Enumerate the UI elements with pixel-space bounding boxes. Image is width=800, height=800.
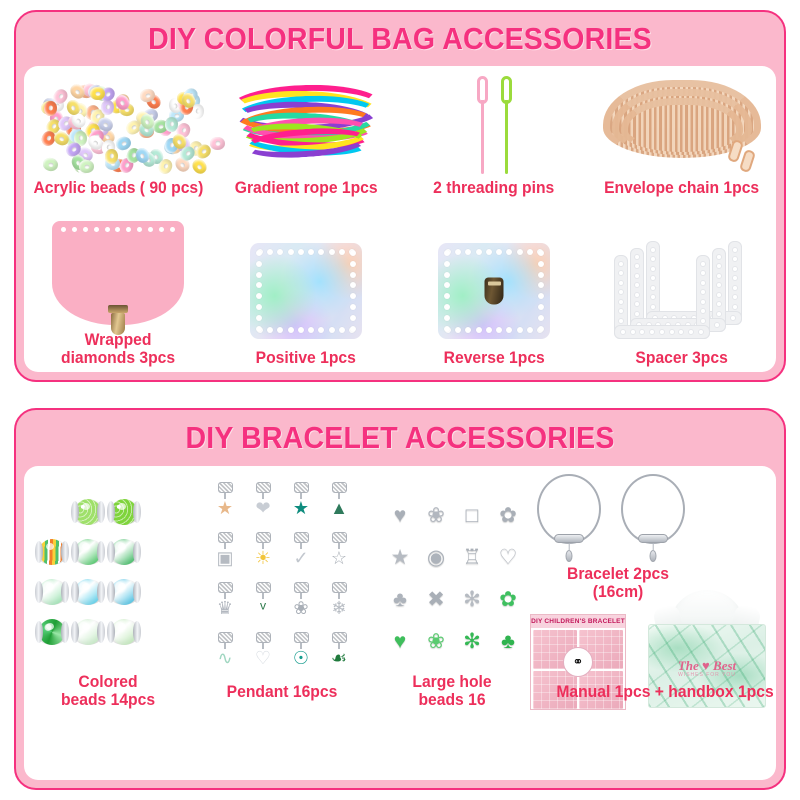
- charm-glyph: ❄: [331, 599, 346, 617]
- panel-hole: [517, 249, 523, 255]
- charm-glyph: ★: [217, 499, 233, 517]
- item-envelope-chain: Envelope chain 1pcs: [588, 70, 776, 198]
- panel-hole: [444, 293, 450, 299]
- spacer-hole: [630, 329, 636, 335]
- spacer-hole: [700, 280, 706, 286]
- panel-hole: [444, 282, 450, 288]
- spacer-hole: [732, 256, 738, 262]
- spacer-hole: [730, 315, 736, 321]
- pendant-group: ★❤★▲▣☀✓☆♛ᵛ❀❄∿♡☉☙: [206, 482, 358, 682]
- charm-glyph: ♡: [255, 649, 271, 667]
- charm-bail: [332, 582, 347, 593]
- charm-glyph: ☉: [293, 649, 309, 667]
- panel-hole: [256, 261, 262, 267]
- charm-glyph: ☙: [331, 649, 347, 667]
- positive-panel-image: [250, 243, 362, 339]
- spacer-hole: [716, 282, 722, 288]
- colored-bead-icon: [108, 539, 140, 565]
- panel-hole: [506, 327, 512, 333]
- panel-hole: [288, 327, 294, 333]
- panel-hole: [517, 327, 523, 333]
- large-hole-bead-clover-leaf-icon: ♣: [393, 589, 407, 610]
- panel-hole: [256, 272, 262, 278]
- colored-bead-icon: [108, 579, 140, 605]
- charm-glyph: ▣: [216, 549, 233, 567]
- spacer-hole: [700, 308, 706, 314]
- bead-highlight: [82, 503, 90, 510]
- large-hole-bead-cross-knot-icon: ✖: [427, 589, 445, 610]
- panel-hole: [538, 282, 544, 288]
- colored-bead: [106, 532, 142, 572]
- bag-accessories-panel: DIY COLORFUL BAG ACCESSORIES Acrylic bea…: [14, 10, 786, 382]
- manual-header: DIY CHILDREN'S BRACELET: [531, 615, 625, 628]
- charm-glyph: ∿: [217, 649, 232, 667]
- panel-hole: [298, 327, 304, 333]
- bead-band: [107, 541, 115, 563]
- panel-hole: [527, 327, 533, 333]
- spacer-hole: [714, 322, 720, 328]
- bead-highlight: [46, 543, 54, 550]
- pendant-crown-icon: ♛: [208, 582, 242, 630]
- large-hole-beads-label: Large hole beads 16: [380, 674, 524, 710]
- colored-bead: [70, 572, 106, 612]
- panel-hole: [256, 250, 262, 256]
- spacer-hole: [639, 329, 645, 335]
- colored-bead: [34, 612, 70, 652]
- spacer-hole: [732, 275, 738, 281]
- charm-bail: [294, 532, 309, 543]
- colored-bead-icon: [72, 579, 104, 605]
- large-hole-bead-castle-icon: ♖: [463, 547, 482, 568]
- panel-hole: [288, 249, 294, 255]
- spacer-hole: [688, 329, 694, 335]
- spacer-hole: [700, 318, 706, 324]
- charm-bail: [294, 582, 309, 593]
- bracelet-panel-body: Colored beads 14pcs ★❤★▲▣☀✓☆♛ᵛ❀❄∿♡☉☙ Pen…: [24, 466, 776, 780]
- spacer-hole: [716, 273, 722, 279]
- panel-hole: [350, 261, 356, 267]
- colored-bead: [106, 492, 142, 532]
- panel-hole: [444, 304, 450, 310]
- panel-hole: [350, 250, 356, 256]
- panel-hole: [308, 249, 314, 255]
- grid-spacer: [142, 492, 178, 532]
- pendant-high-heel-icon: ✓: [284, 532, 318, 580]
- large-hole-bead-butterfly-green-icon: ❀: [427, 631, 445, 652]
- grid-spacer: [142, 572, 178, 612]
- pendant-mermaid-icon: ∿: [208, 632, 242, 680]
- charm-bail: [218, 482, 233, 493]
- bead-band: [97, 581, 105, 603]
- panel-hole: [538, 315, 544, 321]
- bracelet-1-icon: [534, 474, 604, 564]
- large-hole-bead-handbag-icon: □: [466, 505, 479, 526]
- bead-band: [97, 541, 105, 563]
- panel-hole: [256, 315, 262, 321]
- panel-hole: [444, 272, 450, 278]
- spacer-label: Spacer 3pcs: [636, 350, 728, 368]
- large-hole-bead-paw-green-icon: ✻: [463, 631, 481, 652]
- spacer-hole: [700, 270, 706, 276]
- charm-bail: [218, 532, 233, 543]
- colored-bead: [70, 492, 106, 532]
- large-hole-bead-flower-green-icon: ✿: [499, 589, 517, 610]
- bead-band: [107, 501, 115, 523]
- charm-bail: [294, 482, 309, 493]
- bead-band: [133, 501, 141, 523]
- acrylic-bead: [101, 100, 115, 116]
- pendant-snowflake-icon: ❄: [322, 582, 356, 630]
- grid-spacer: [142, 612, 178, 652]
- pendant-leaf-icon: ☙: [322, 632, 356, 680]
- colored-bead-icon: [108, 499, 140, 525]
- charm-glyph: ❀: [293, 599, 308, 617]
- pendant-wine-glass-icon: ᵛ: [246, 582, 280, 630]
- large-hole-bead-double-heart-icon: ♡: [499, 547, 518, 568]
- colored-beads-group: [34, 492, 178, 652]
- pendant-starfish-icon: ★: [208, 482, 242, 530]
- bracelet-image: [534, 474, 702, 566]
- item-wrapped-diamonds: Wrapped diamonds 3pcs: [24, 214, 212, 368]
- bead-highlight: [82, 583, 90, 590]
- wrapped-diamonds-image: [52, 221, 184, 325]
- pendant-star-outline-icon: ☆: [322, 532, 356, 580]
- wrapped-diamonds-label: Wrapped diamonds 3pcs: [61, 332, 175, 368]
- bead-band: [97, 501, 105, 523]
- panel-hole: [350, 326, 356, 332]
- large-hole-bead-heart-pattern-icon: ♥: [394, 505, 406, 526]
- spacer-hole: [716, 292, 722, 298]
- charm-bail: [218, 632, 233, 643]
- spacer-hole: [618, 299, 624, 305]
- bead-band: [71, 541, 79, 563]
- gradient-rope-image: [220, 79, 392, 171]
- panel-hole: [476, 249, 482, 255]
- panel-hole: [444, 250, 450, 256]
- charm-glyph: ᵛ: [260, 599, 266, 617]
- positive-panel-label: Positive 1pcs: [256, 350, 356, 368]
- colored-bead-icon: [72, 539, 104, 565]
- colored-bead: [70, 612, 106, 652]
- spacer-hole: [716, 254, 722, 260]
- panel-hole: [350, 293, 356, 299]
- large-hole-beads-group: ♥❀□✿★◉♖♡♣✖✻✿♥❀✻♣: [382, 494, 526, 662]
- gradient-rope-label: Gradient rope 1pcs: [235, 180, 378, 198]
- pendant-heart-filigree-icon: ❤: [246, 482, 280, 530]
- spacer-hole: [618, 289, 624, 295]
- manual-detail-circle: ⚭: [563, 647, 593, 677]
- panel-hole: [329, 327, 335, 333]
- panel-hole: [350, 315, 356, 321]
- item-reverse-panel: Reverse 1pcs: [400, 232, 588, 368]
- pendant-camera-icon: ▣: [208, 532, 242, 580]
- spacer-hole: [700, 289, 706, 295]
- charm-bail: [256, 532, 271, 543]
- bead-band: [71, 621, 79, 643]
- panel-hole: [308, 327, 314, 333]
- panel-hole: [339, 327, 345, 333]
- pendant-grid: ★❤★▲▣☀✓☆♛ᵛ❀❄∿♡☉☙: [206, 482, 358, 682]
- bead-highlight: [118, 583, 126, 590]
- bracelet-2-icon: [618, 474, 688, 564]
- charm-bail: [294, 632, 309, 643]
- panel-hole: [267, 249, 273, 255]
- item-gradient-rope: Gradient rope 1pcs: [212, 70, 400, 198]
- item-spacer: Spacer 3pcs: [588, 232, 776, 368]
- charm-glyph: ♛: [217, 599, 233, 617]
- panel-hole: [444, 326, 450, 332]
- reverse-panel-image: [438, 243, 550, 339]
- pendant-planet-icon: ☉: [284, 632, 318, 680]
- threading-pin-pink-icon: [477, 76, 488, 174]
- panel-hole: [339, 249, 345, 255]
- envelope-chain-image: [593, 76, 771, 174]
- spacer-hole: [732, 285, 738, 291]
- charm-glyph: ☀: [255, 549, 271, 567]
- charm-bail: [218, 582, 233, 593]
- panel-hole: [506, 249, 512, 255]
- bracelet-panel-title: DIY BRACELET ACCESSORIES: [47, 410, 754, 466]
- colored-bead-icon: [72, 619, 104, 645]
- product-infographic: DIY COLORFUL BAG ACCESSORIES Acrylic bea…: [0, 0, 800, 800]
- bead-band: [133, 621, 141, 643]
- panel-hole: [256, 326, 262, 332]
- bead-band: [61, 581, 69, 603]
- spacer-hole: [669, 329, 675, 335]
- spacer-image: [606, 241, 758, 341]
- panel-hole: [298, 249, 304, 255]
- panel-hole: [538, 326, 544, 332]
- bead-highlight: [118, 623, 126, 630]
- large-hole-bead-paw-icon: ✻: [463, 589, 481, 610]
- bead-band: [35, 621, 43, 643]
- bead-band: [35, 541, 43, 563]
- large-hole-bead-rose-icon: ✿: [499, 505, 517, 526]
- bead-highlight: [118, 543, 126, 550]
- charm-bail: [256, 482, 271, 493]
- colored-beads-grid: [34, 492, 178, 652]
- colored-bead-icon: [36, 579, 68, 605]
- panel-hole: [350, 304, 356, 310]
- colored-bead: [106, 572, 142, 612]
- charm-glyph: ✓: [293, 549, 308, 567]
- bracelet-accessories-panel: DIY BRACELET ACCESSORIES Colored beads 1…: [14, 408, 786, 790]
- colored-bead: [106, 612, 142, 652]
- spacer-hole: [618, 308, 624, 314]
- panel-hole: [455, 249, 461, 255]
- panel-hole: [444, 315, 450, 321]
- colored-bead-icon: [72, 499, 104, 525]
- charm-bail: [332, 632, 347, 643]
- bead-highlight: [82, 623, 90, 630]
- item-positive-panel: Positive 1pcs: [212, 232, 400, 368]
- spacer-hole: [649, 329, 655, 335]
- bead-band: [133, 541, 141, 563]
- spacer-hole: [700, 299, 706, 305]
- bead-highlight: [82, 543, 90, 550]
- panel-hole: [496, 327, 502, 333]
- acrylic-bead: [79, 160, 94, 173]
- bracelet-label: Bracelet 2pcs: [534, 566, 701, 584]
- pendant-double-heart-icon: ♡: [246, 632, 280, 680]
- spacer-hole: [716, 311, 722, 317]
- panel-hole: [538, 272, 544, 278]
- spacer-hole: [716, 301, 722, 307]
- panel-hole: [455, 327, 461, 333]
- spacer-hole: [732, 247, 738, 253]
- threading-pins-image: [464, 76, 524, 174]
- large-hole-bead-owl-icon: ◉: [427, 547, 445, 568]
- charm-bail: [256, 582, 271, 593]
- large-hole-bead-star-icon: ★: [391, 547, 410, 568]
- bead-band: [35, 581, 43, 603]
- bead-band: [97, 621, 105, 643]
- panel-hole: [444, 261, 450, 267]
- panel-hole: [277, 249, 283, 255]
- panel-hole: [256, 304, 262, 310]
- panel-hole: [486, 327, 492, 333]
- colored-bead: [34, 572, 70, 612]
- charm-glyph: ❤: [255, 499, 270, 517]
- threading-pins-label: 2 threading pins: [433, 180, 554, 198]
- spacer-hole: [659, 329, 665, 335]
- bead-highlight: [46, 583, 54, 590]
- spacer-hole: [620, 329, 626, 335]
- acrylic-bead: [42, 157, 59, 173]
- large-hole-beads-grid: ♥❀□✿★◉♖♡♣✖✻✿♥❀✻♣: [382, 494, 526, 662]
- panel-hole: [277, 327, 283, 333]
- panel-hole: [329, 249, 335, 255]
- charm-bail: [332, 482, 347, 493]
- panel-hole: [527, 249, 533, 255]
- spacer-hole: [716, 263, 722, 269]
- spacer-hole: [732, 294, 738, 300]
- spacer-hole: [732, 304, 738, 310]
- panel-hole: [538, 261, 544, 267]
- colored-bead-icon: [36, 539, 68, 565]
- large-hole-bead-heart-green-icon: ♥: [394, 631, 406, 652]
- panel-hole: [465, 327, 471, 333]
- colored-bead-icon: [108, 619, 140, 645]
- manual-handbox-label: Manual 1pcs + handbox 1pcs: [527, 684, 786, 702]
- spacer-hole: [618, 280, 624, 286]
- panel-hole: [318, 327, 324, 333]
- pendant-label: Pendant 16pcs: [204, 684, 360, 702]
- large-hole-bead-clover-green-icon: ♣: [501, 631, 515, 652]
- panel-hole: [350, 272, 356, 278]
- panel-hole: [476, 327, 482, 333]
- charm-bail: [332, 532, 347, 543]
- acrylic-bead: [190, 157, 210, 177]
- acrylic-beads-image: [18, 77, 218, 173]
- spacer-hole: [618, 270, 624, 276]
- envelope-chain-label: Envelope chain 1pcs: [604, 180, 759, 198]
- panel-hole: [496, 249, 502, 255]
- panel-hole: [538, 304, 544, 310]
- panel-hole: [538, 250, 544, 256]
- bead-band: [107, 581, 115, 603]
- panel-hole: [256, 293, 262, 299]
- large-hole-bead-butterfly-icon: ❀: [427, 505, 445, 526]
- panel-hole: [256, 282, 262, 288]
- reverse-panel-label: Reverse 1pcs: [443, 350, 544, 368]
- pendant-sunflower-icon: ☀: [246, 532, 280, 580]
- bracelet-group: [534, 474, 702, 566]
- colored-bead: [34, 532, 70, 572]
- colored-bead: [70, 532, 106, 572]
- charm-glyph: ▲: [330, 499, 348, 517]
- panel-hole: [538, 293, 544, 299]
- bead-band: [61, 621, 69, 643]
- bag-panel-body: Acrylic beads ( 90 pcs) Gradient rope 1p…: [24, 66, 776, 372]
- charm-bail: [256, 632, 271, 643]
- colored-bead-icon: [36, 619, 68, 645]
- panel-hole: [465, 249, 471, 255]
- bead-band: [107, 621, 115, 643]
- bead-highlight: [118, 503, 126, 510]
- colored-beads-label: Colored beads 14pcs: [34, 674, 182, 710]
- spacer-hole: [618, 261, 624, 267]
- spacer-hole: [678, 329, 684, 335]
- item-acrylic-beads: Acrylic beads ( 90 pcs): [24, 70, 212, 198]
- charm-glyph: ★: [293, 499, 309, 517]
- spacer-hole: [732, 266, 738, 272]
- handbox-subtext: WISHES FOR YOU: [649, 672, 765, 678]
- grid-spacer: [142, 532, 178, 572]
- bead-band: [71, 581, 79, 603]
- bead-highlight: [46, 623, 54, 630]
- acrylic-beads-label: Acrylic beads ( 90 pcs): [33, 180, 203, 198]
- panel-hole: [486, 249, 492, 255]
- pendant-cupcake-icon: ▲: [322, 482, 356, 530]
- panel-hole: [350, 282, 356, 288]
- charm-glyph: ☆: [331, 549, 347, 567]
- threading-pin-green-icon: [501, 76, 512, 174]
- spacer-hole: [618, 318, 624, 324]
- bead-band: [71, 501, 79, 523]
- spacer-base: [614, 325, 710, 339]
- bead-band: [61, 541, 69, 563]
- item-threading-pins: 2 threading pins: [400, 70, 588, 198]
- pendant-star-teal-icon: ★: [284, 482, 318, 530]
- lock-icon: [485, 277, 504, 304]
- bag-panel-title: DIY COLORFUL BAG ACCESSORIES: [47, 12, 754, 66]
- spacer-hole: [700, 261, 706, 267]
- panel-hole: [318, 249, 324, 255]
- spacer-hole: [698, 329, 704, 335]
- grid-spacer: [34, 492, 70, 532]
- bead-band: [133, 581, 141, 603]
- panel-hole: [267, 327, 273, 333]
- pendant-maple-leaf-icon: ❀: [284, 582, 318, 630]
